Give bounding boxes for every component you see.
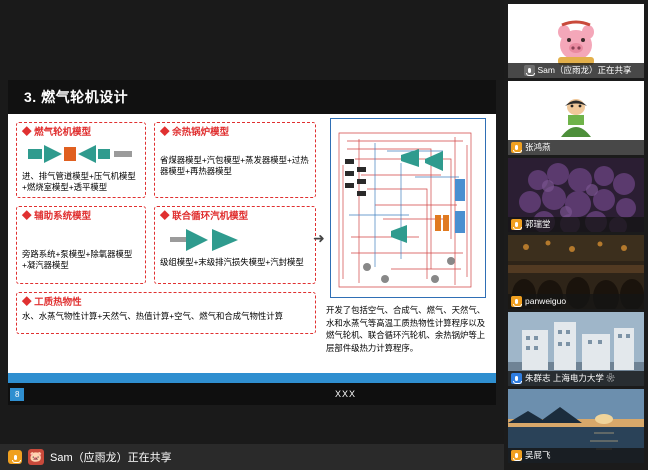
slide-title: 3. 燃气轮机设计 (8, 87, 128, 107)
participant-tile-zhuqunzhi[interactable]: 朱群志 上海电力大学 ❀ (508, 312, 644, 386)
box-hrsg-model: ◆ 余热锅炉模型 省煤器模型+汽包模型+蒸发器模型+过热器模型+再热器模型 (154, 122, 316, 198)
avatar-icon: 🐷 (28, 449, 44, 465)
box-heading: ◆ 燃气轮机模型 (22, 127, 140, 139)
participant-name: Sam（应雨龙）正在共享 (538, 63, 632, 78)
box-text: 旁路系统+泵模型+除氧器模型+凝汽器模型 (22, 249, 140, 271)
microphone-icon[interactable] (511, 219, 522, 230)
flow-diagram-svg (331, 119, 486, 298)
microphone-icon[interactable] (511, 142, 522, 153)
slide-title-bar: 3. 燃气轮机设计 (8, 80, 496, 114)
box-heading: ◆ 工质热物性 (22, 297, 310, 309)
slide-footer-right: XXX (335, 389, 356, 399)
slide-footer: 8 XXX (8, 383, 496, 405)
participant-tile-panweiguo[interactable]: panweiguo (508, 235, 644, 309)
gas-turbine-illustration (22, 141, 140, 169)
participant-label: Sam（应雨龙）正在共享 (508, 63, 644, 78)
participant-label: 张鸿燕 (508, 140, 644, 155)
cartoon-person-svg (551, 93, 601, 143)
box-text: 进、排气管道模型+压气机模型+燃烧室模型+透平模型 (22, 171, 140, 193)
slide-body: ◆ 燃气轮机模型 进、排气管道模型+压气机模型+燃烧室模型+透平模型 (8, 114, 496, 373)
participant-name: 张鸿燕 (525, 140, 551, 155)
microphone-icon[interactable] (524, 65, 535, 76)
participant-tile-wuqunfei[interactable]: 吴屁飞 (508, 389, 644, 463)
model-box-group: ◆ 燃气轮机模型 进、排气管道模型+压气机模型+燃烧室模型+透平模型 (16, 118, 316, 368)
slide-footer-strip (8, 373, 496, 383)
box-auxiliary-system-model: ◆ 辅助系统模型 旁路系统+泵模型+除氧器模型+凝汽器模型 (16, 206, 146, 284)
box-heading: ◆ 余热锅炉模型 (160, 127, 310, 139)
participant-name: panweiguo (525, 294, 566, 309)
participant-label: 郭瑞堂 (508, 217, 644, 232)
participant-rail[interactable]: Sam（应雨龙）正在共享 张鸿燕 (504, 0, 648, 470)
share-status-bar[interactable]: 🐷 Sam（应雨龙）正在共享 (0, 444, 504, 470)
share-status-label: Sam（应雨龙）正在共享 (50, 449, 172, 465)
box-text: 省煤器模型+汽包模型+蒸发器模型+过热器模型+再热器模型 (160, 155, 310, 177)
box-heading: ◆ 联合循环汽机模型 (160, 211, 310, 223)
microphone-icon[interactable] (8, 450, 22, 464)
participant-tile-guoruitang[interactable]: 郭瑞堂 (508, 158, 644, 232)
microphone-icon[interactable] (511, 450, 522, 461)
meeting-window: 3. 燃气轮机设计 ◆ 燃气轮机模型 (0, 0, 648, 470)
participant-label: panweiguo (508, 294, 644, 309)
participant-tile-sam[interactable]: Sam（应雨龙）正在共享 (508, 4, 644, 78)
participant-label: 朱群志 上海电力大学 ❀ (508, 371, 644, 386)
box-heading: ◆ 辅助系统模型 (22, 211, 140, 223)
shared-screen-stage[interactable]: 3. 燃气轮机设计 ◆ 燃气轮机模型 (0, 0, 504, 470)
participant-label: 吴屁飞 (508, 448, 644, 463)
right-arrow-icon: ➜ (313, 232, 329, 244)
box-working-fluid-properties: ◆ 工质热物性 水、水蒸气物性计算+天然气、热值计算+空气、燃气和合成气物性计算 (16, 292, 316, 334)
participant-name: 朱群志 上海电力大学 ❀ (525, 371, 615, 386)
slide-page-number: 8 (10, 388, 24, 401)
box-text: 级组模型+末级排汽损失模型+汽封模型 (160, 257, 310, 268)
slide-right-note: 开发了包括空气、合成气、燃气、天然气、水和水蒸气等高温工质热物性计算程序以及燃气… (326, 304, 490, 354)
box-gas-turbine-model: ◆ 燃气轮机模型 进、排气管道模型+压气机模型+燃烧室模型+透平模型 (16, 122, 146, 198)
power-plant-flow-diagram (330, 118, 486, 298)
microphone-icon[interactable] (511, 296, 522, 307)
participant-name: 吴屁飞 (525, 448, 551, 463)
participant-tile-zhanghongyan[interactable]: 张鸿燕 (508, 81, 644, 155)
box-text: 水、水蒸气物性计算+天然气、热值计算+空气、燃气和合成气物性计算 (22, 311, 310, 322)
presentation-slide: 3. 燃气轮机设计 ◆ 燃气轮机模型 (8, 80, 496, 405)
box-combined-cycle-steam-turbine-model: ◆ 联合循环汽机模型 级组模型+末级排汽损失模型+汽封模型 (154, 206, 316, 284)
steam-turbine-illustration (160, 225, 310, 255)
pig-avatar-svg (550, 15, 602, 67)
microphone-icon[interactable] (511, 373, 522, 384)
participant-name: 郭瑞堂 (525, 217, 551, 232)
